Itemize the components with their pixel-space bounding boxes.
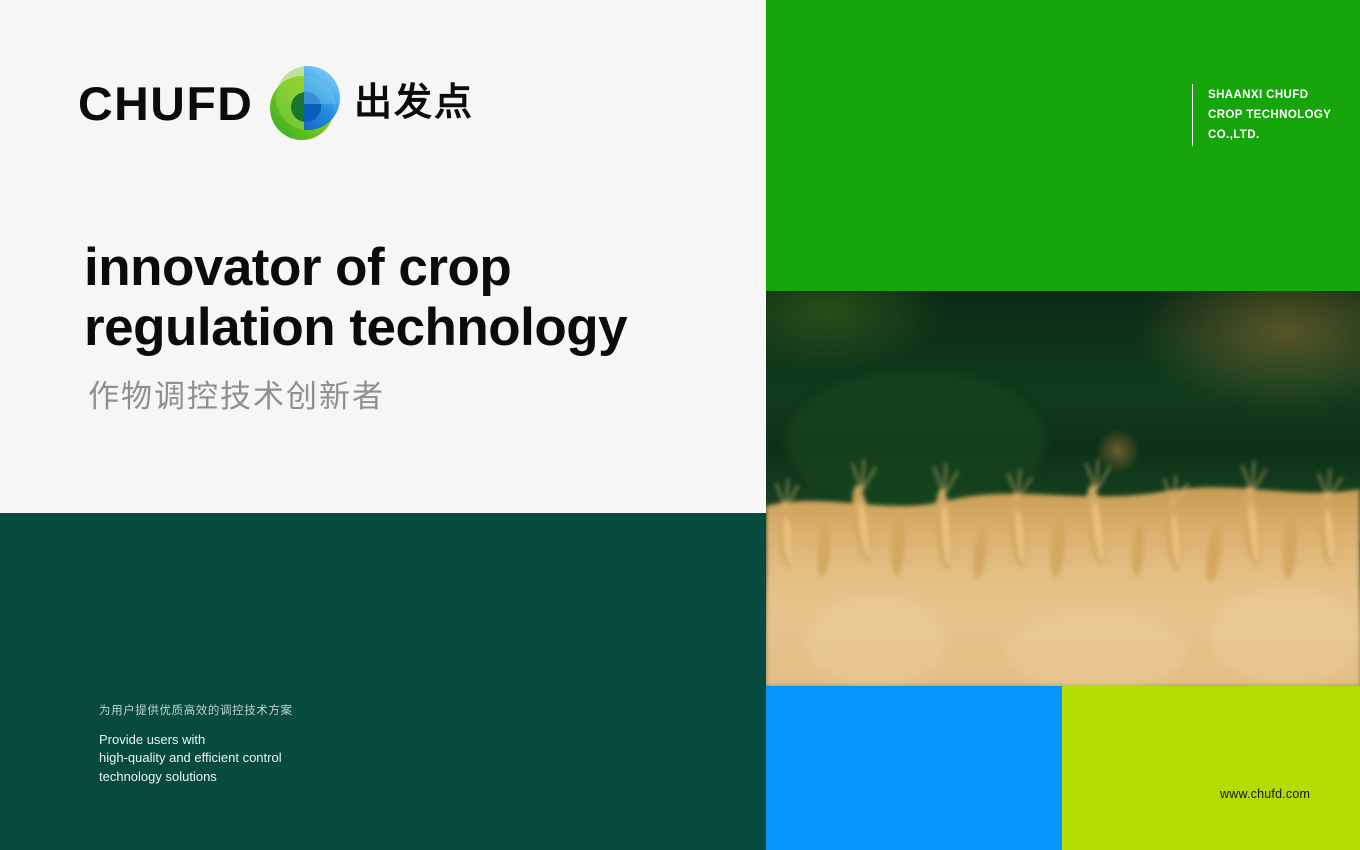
blue-accent-panel bbox=[766, 686, 1062, 850]
hero-headline: innovator of crop regulation technology bbox=[84, 238, 724, 358]
hero-subheadline-chinese: 作物调控技术创新者 bbox=[88, 378, 385, 415]
headline-line-2: regulation technology bbox=[84, 298, 724, 358]
brand-wordmark-chinese: 出发点 bbox=[354, 84, 474, 122]
tagline-english: Provide users with high-quality and effi… bbox=[99, 731, 282, 786]
wheat-field-photo bbox=[766, 291, 1360, 686]
company-name-line-2: CROP TECHNOLOGY bbox=[1208, 105, 1331, 125]
company-name-line-3: CO.,LTD. bbox=[1208, 125, 1331, 145]
brand-wordmark: CHUFD bbox=[78, 80, 253, 127]
chufd-circle-logo-icon bbox=[268, 60, 340, 146]
lime-accent-panel bbox=[1062, 686, 1360, 850]
headline-line-1: innovator of crop bbox=[84, 238, 511, 297]
company-name-block: SHAANXI CHUFD CROP TECHNOLOGY CO.,LTD. bbox=[1192, 84, 1331, 146]
brand-logo-lockup: CHUFD bbox=[78, 60, 474, 146]
tagline-en-line-2: high-quality and efficient control bbox=[99, 749, 282, 767]
tagline-en-line-3: technology solutions bbox=[99, 768, 282, 786]
company-name-line-1: SHAANXI CHUFD bbox=[1208, 85, 1331, 105]
poster-canvas: CHUFD bbox=[0, 0, 1360, 850]
teal-panel bbox=[0, 513, 766, 850]
tagline-chinese: 为用户提供优质高效的调控技术方案 bbox=[99, 703, 293, 719]
tagline-en-line-1: Provide users with bbox=[99, 731, 282, 749]
website-url[interactable]: www.chufd.com bbox=[1220, 788, 1310, 801]
